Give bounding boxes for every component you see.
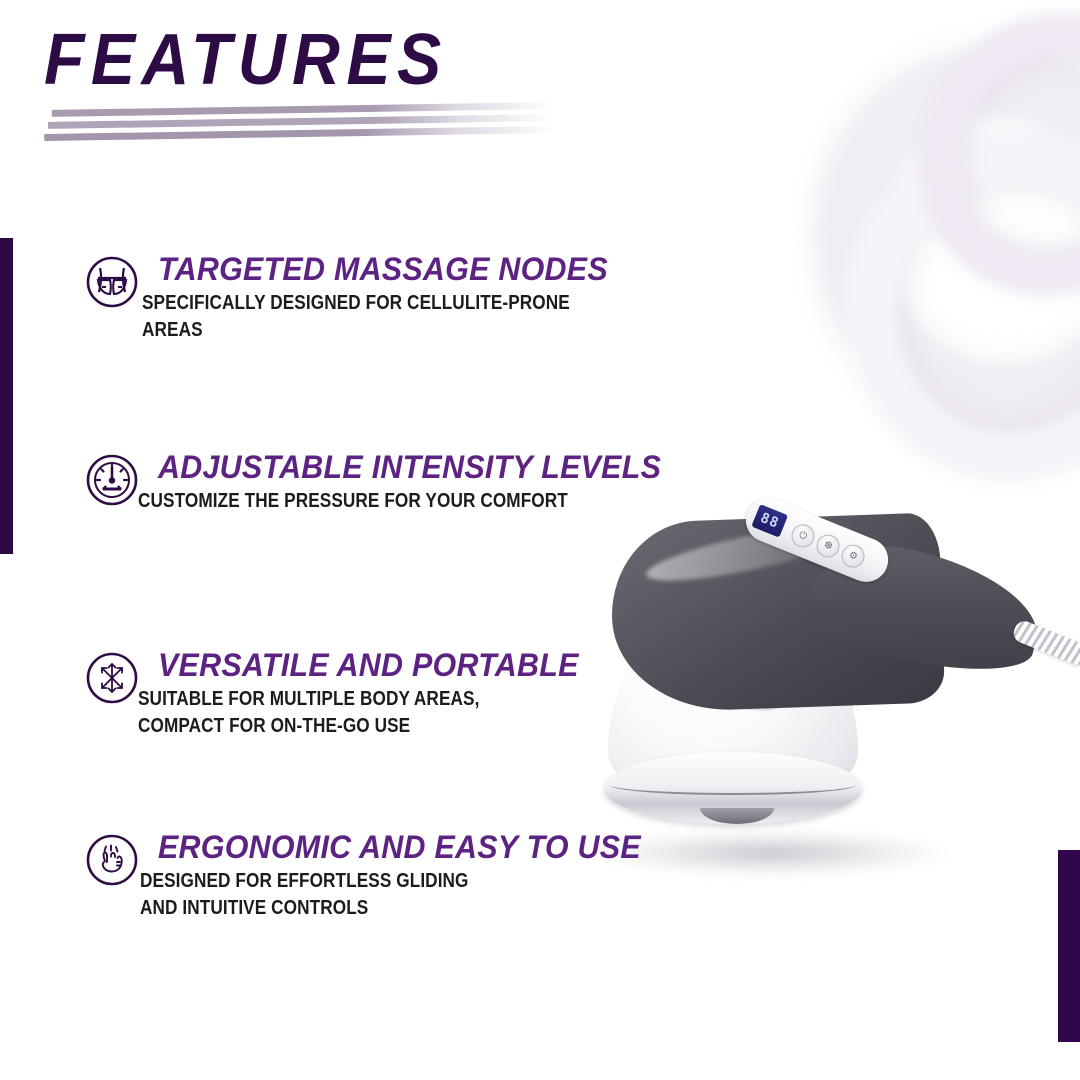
feature-subtitle: CUSTOMIZE THE PRESSURE FOR YOUR COMFORT [138,488,611,515]
handheld-body-massager-product-image: 88 ⏻ ❆ ⚙ [560,470,1080,890]
power-button[interactable]: ⏻ [788,521,818,551]
massager-base-foot [700,808,774,824]
speed-button[interactable]: ⚙ [838,541,868,571]
title-rule-3 [44,126,556,141]
mode-button[interactable]: ❆ [813,531,843,561]
swirl-ring-outer [770,3,1080,478]
hand-peace-gesture-icon [84,832,140,888]
title-underline-rules [44,96,565,146]
feature-title: VERSATILE AND PORTABLE [158,646,579,684]
feature-text-block: VERSATILE AND PORTABLE SUITABLE FOR MULT… [158,646,601,740]
body-hips-icon [84,254,140,310]
power-cord [1011,618,1080,668]
swirl-ring-middle [813,99,1080,515]
left-accent-bar [0,238,13,554]
swirl-ring-inner [866,0,1080,346]
massager-base-seam [610,775,856,795]
feature-subtitle: SUITABLE FOR MULTIPLE BODY AREAS, COMPAC… [138,686,536,740]
feature-item-targeted-massage-nodes: TARGETED MASSAGE NODES SPECIFICALLY DESI… [84,250,700,344]
feature-subtitle: SPECIFICALLY DESIGNED FOR CELLULITE-PRON… [142,290,622,344]
feature-item-versatile-and-portable: VERSATILE AND PORTABLE SUITABLE FOR MULT… [84,646,601,740]
feature-subtitle: DESIGNED FOR EFFORTLESS GLIDING AND INTU… [140,868,593,922]
feature-title: ADJUSTABLE INTENSITY LEVELS [158,448,661,486]
gauge-speedometer-icon [84,452,140,508]
feature-text-block: ERGONOMIC AND EASY TO USE DESIGNED FOR E… [158,828,666,922]
massager-neck-grip [801,530,1050,689]
massager-handle-highlight [643,515,855,592]
feature-text-block: ADJUSTABLE INTENSITY LEVELS CUSTOMIZE TH… [158,448,688,515]
feature-title: ERGONOMIC AND EASY TO USE [158,828,641,866]
feature-text-block: TARGETED MASSAGE NODES SPECIFICALLY DESI… [158,250,700,344]
feature-title: TARGETED MASSAGE NODES [158,250,673,288]
blurred-swirl-decoration [800,10,1080,410]
massager-handle [609,512,945,713]
massager-control-panel: 88 ⏻ ❆ ⚙ [739,492,895,589]
right-accent-bar [1058,850,1080,1042]
multi-direction-arrows-icon [84,650,140,706]
massager-head-body [608,600,858,810]
massager-head-cone [673,553,828,717]
page-title: FEATURES [44,22,614,98]
feature-infographic-page: 88 ⏻ ❆ ⚙ FEATURES [0,0,1080,1080]
massager-base-rim [604,752,862,824]
page-title-block: FEATURES [44,22,664,98]
feature-item-ergonomic-and-easy-to-use: ERGONOMIC AND EASY TO USE DESIGNED FOR E… [84,828,666,922]
led-display: 88 [751,504,788,537]
feature-item-adjustable-intensity-levels: ADJUSTABLE INTENSITY LEVELS CUSTOMIZE TH… [84,448,688,515]
